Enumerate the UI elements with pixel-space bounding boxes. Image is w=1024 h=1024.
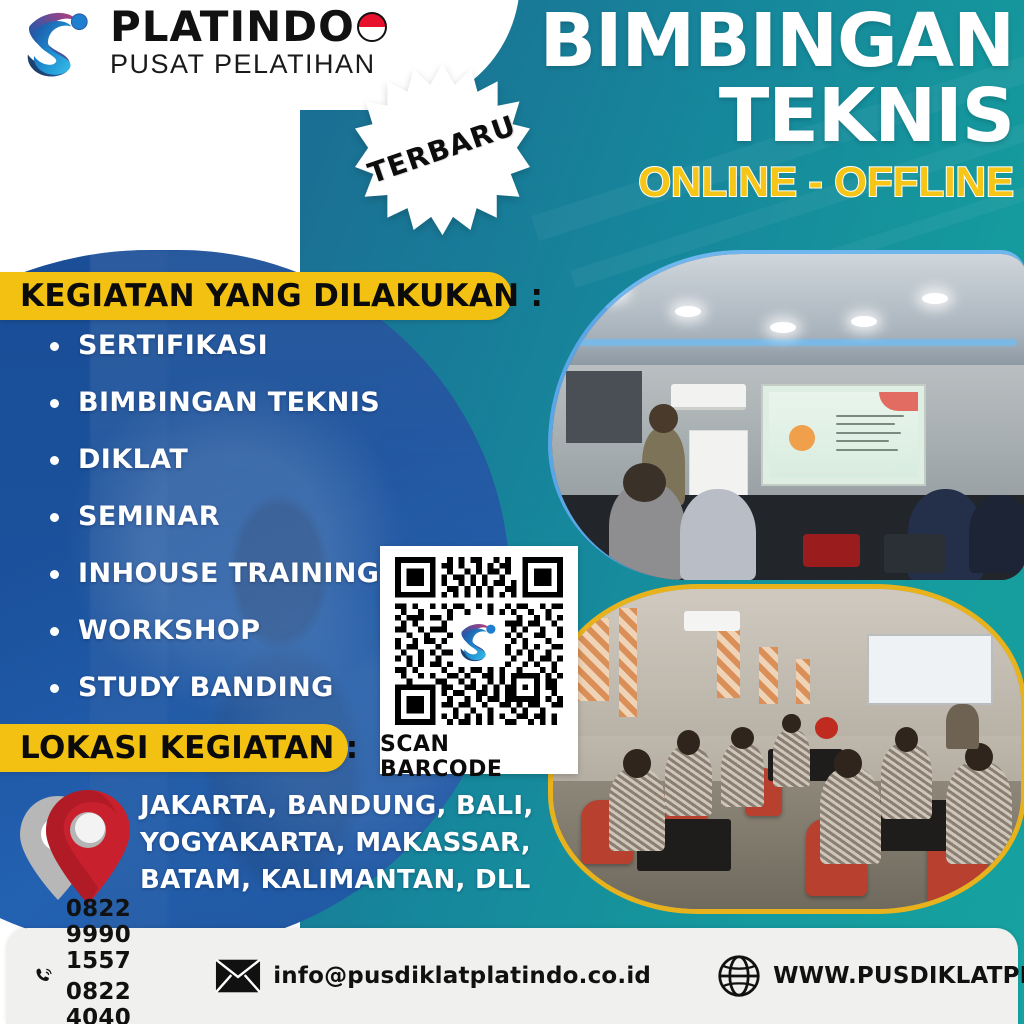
brand-tagline: PUSAT PELATIHAN [110, 51, 387, 78]
seminar-room-photo [548, 584, 1024, 914]
locations-line-3: BATAM, KALIMANTAN, DLL [140, 862, 540, 899]
platindo-swoosh-logo-icon [456, 620, 502, 662]
qr-code-icon[interactable] [395, 557, 563, 725]
envelope-icon [215, 958, 261, 994]
qr-center-logo [453, 615, 505, 667]
phone-number-2: 0822 4040 6577 [66, 979, 157, 1024]
activities-heading: KEGIATAN YANG DILAKUKAN : [0, 278, 543, 314]
brand-name-row: PLATINDO [110, 6, 387, 48]
brand-logo: PLATINDO PUSAT PELATIHAN [20, 6, 387, 78]
title-subtitle: ONLINE - OFFLINE [540, 158, 1014, 206]
phone-icon [34, 953, 54, 999]
title-line-1: BIMBINGAN [540, 6, 1014, 77]
globe-icon [717, 954, 761, 998]
seminar-room-scene [553, 589, 1021, 909]
poster-canvas: PLATINDO PUSAT PELATIHAN BIMBINGAN TEKNI… [0, 0, 1024, 1024]
contact-footer: 0822 9990 1557 0822 4040 6577 info@pusdi… [6, 928, 1018, 1024]
locations-heading-banner: LOKASI KEGIATAN : [0, 724, 348, 772]
terbaru-starburst-icon [355, 62, 530, 237]
phone-number-1: 0822 9990 1557 [66, 896, 157, 974]
title-line-2: TEKNIS [540, 81, 1014, 152]
locations-line-1: JAKARTA, BANDUNG, BALI, [140, 788, 540, 825]
activities-heading-banner: KEGIATAN YANG DILAKUKAN : [0, 272, 512, 320]
locations-text: JAKARTA, BANDUNG, BALI, YOGYAKARTA, MAKA… [140, 788, 540, 899]
footer-website[interactable]: WWW.PUSDIKLATPLATINDO.CO.ID [717, 954, 1024, 998]
poster-title-block: BIMBINGAN TEKNIS ONLINE - OFFLINE [540, 6, 1014, 206]
website-url: WWW.PUSDIKLATPLATINDO.CO.ID [773, 963, 1024, 989]
footer-phone[interactable]: 0822 9990 1557 0822 4040 6577 [34, 896, 157, 1024]
locations-heading: LOKASI KEGIATAN : [0, 730, 358, 766]
footer-email[interactable]: info@pusdiklatplatindo.co.id [215, 958, 651, 994]
list-item: BIMBINGAN TEKNIS [40, 387, 460, 418]
list-item: DIKLAT [40, 444, 460, 475]
list-item: SEMINAR [40, 501, 460, 532]
qr-code-card[interactable]: SCAN BARCODE [380, 546, 578, 774]
brand-name: PLATINDO [110, 6, 355, 48]
platindo-swoosh-logo-icon [20, 6, 98, 78]
indonesia-flag-dot-icon [357, 12, 387, 42]
email-address: info@pusdiklatplatindo.co.id [273, 963, 651, 989]
qr-label: SCAN BARCODE [380, 732, 578, 782]
locations-line-2: YOGYAKARTA, MAKASSAR, [140, 825, 540, 862]
training-room-scene [552, 254, 1024, 580]
list-item: SERTIFIKASI [40, 330, 460, 361]
training-room-photo [548, 250, 1024, 580]
